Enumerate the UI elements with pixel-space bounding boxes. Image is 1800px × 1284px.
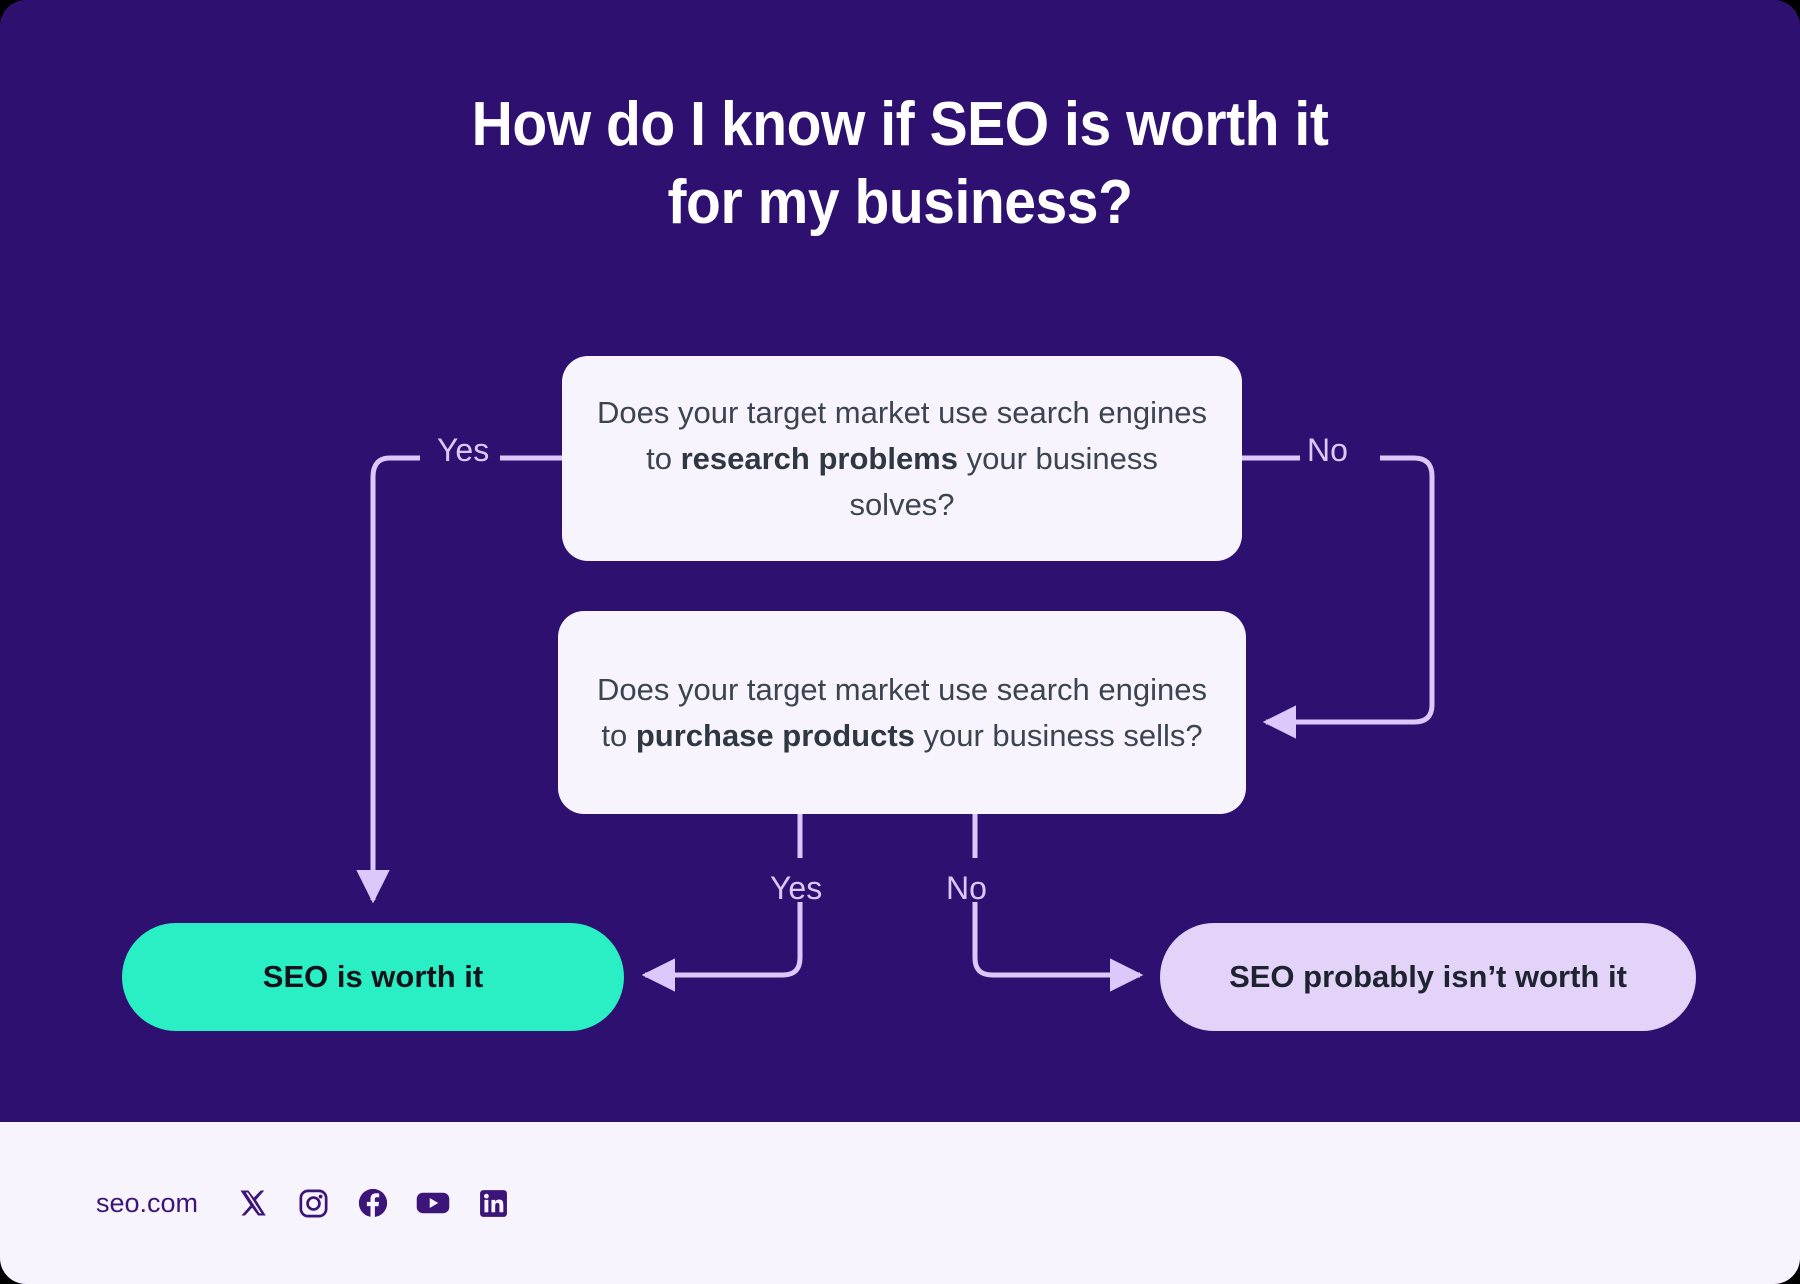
decision-box-research-problems: Does your target market use search engin… [562, 356, 1242, 561]
edge-label-decision-2-no: No [946, 872, 987, 904]
outcome-seo-probably-isnt-worth-it: SEO probably isn’t worth it [1160, 923, 1696, 1031]
edge-label-decision-1-yes: Yes [437, 434, 489, 466]
facebook-icon[interactable] [356, 1186, 390, 1220]
youtube-icon[interactable] [416, 1186, 450, 1220]
linkedin-icon[interactable] [476, 1186, 510, 1220]
decision-1-text-bold: research problems [681, 441, 958, 476]
infographic-canvas: How do I know if SEO is worth it for my … [0, 0, 1800, 1284]
decision-box-purchase-products: Does your target market use search engin… [558, 611, 1246, 814]
x-twitter-icon[interactable] [236, 1186, 270, 1220]
footer-bar: seo.com [0, 1122, 1800, 1284]
edge-label-decision-2-yes: Yes [770, 872, 822, 904]
decision-2-text: Does your target market use search engin… [592, 667, 1212, 759]
decision-2-text-bold: purchase products [636, 718, 915, 753]
edge-label-decision-1-no: No [1307, 434, 1348, 466]
footer-brand-text: seo.com [96, 1188, 198, 1219]
instagram-icon[interactable] [296, 1186, 330, 1220]
outcome-seo-is-worth-it: SEO is worth it [122, 923, 624, 1031]
footer-left-group: seo.com [96, 1186, 510, 1220]
decision-2-text-after: your business sells? [915, 718, 1203, 753]
decision-1-text: Does your target market use search engin… [596, 390, 1208, 528]
